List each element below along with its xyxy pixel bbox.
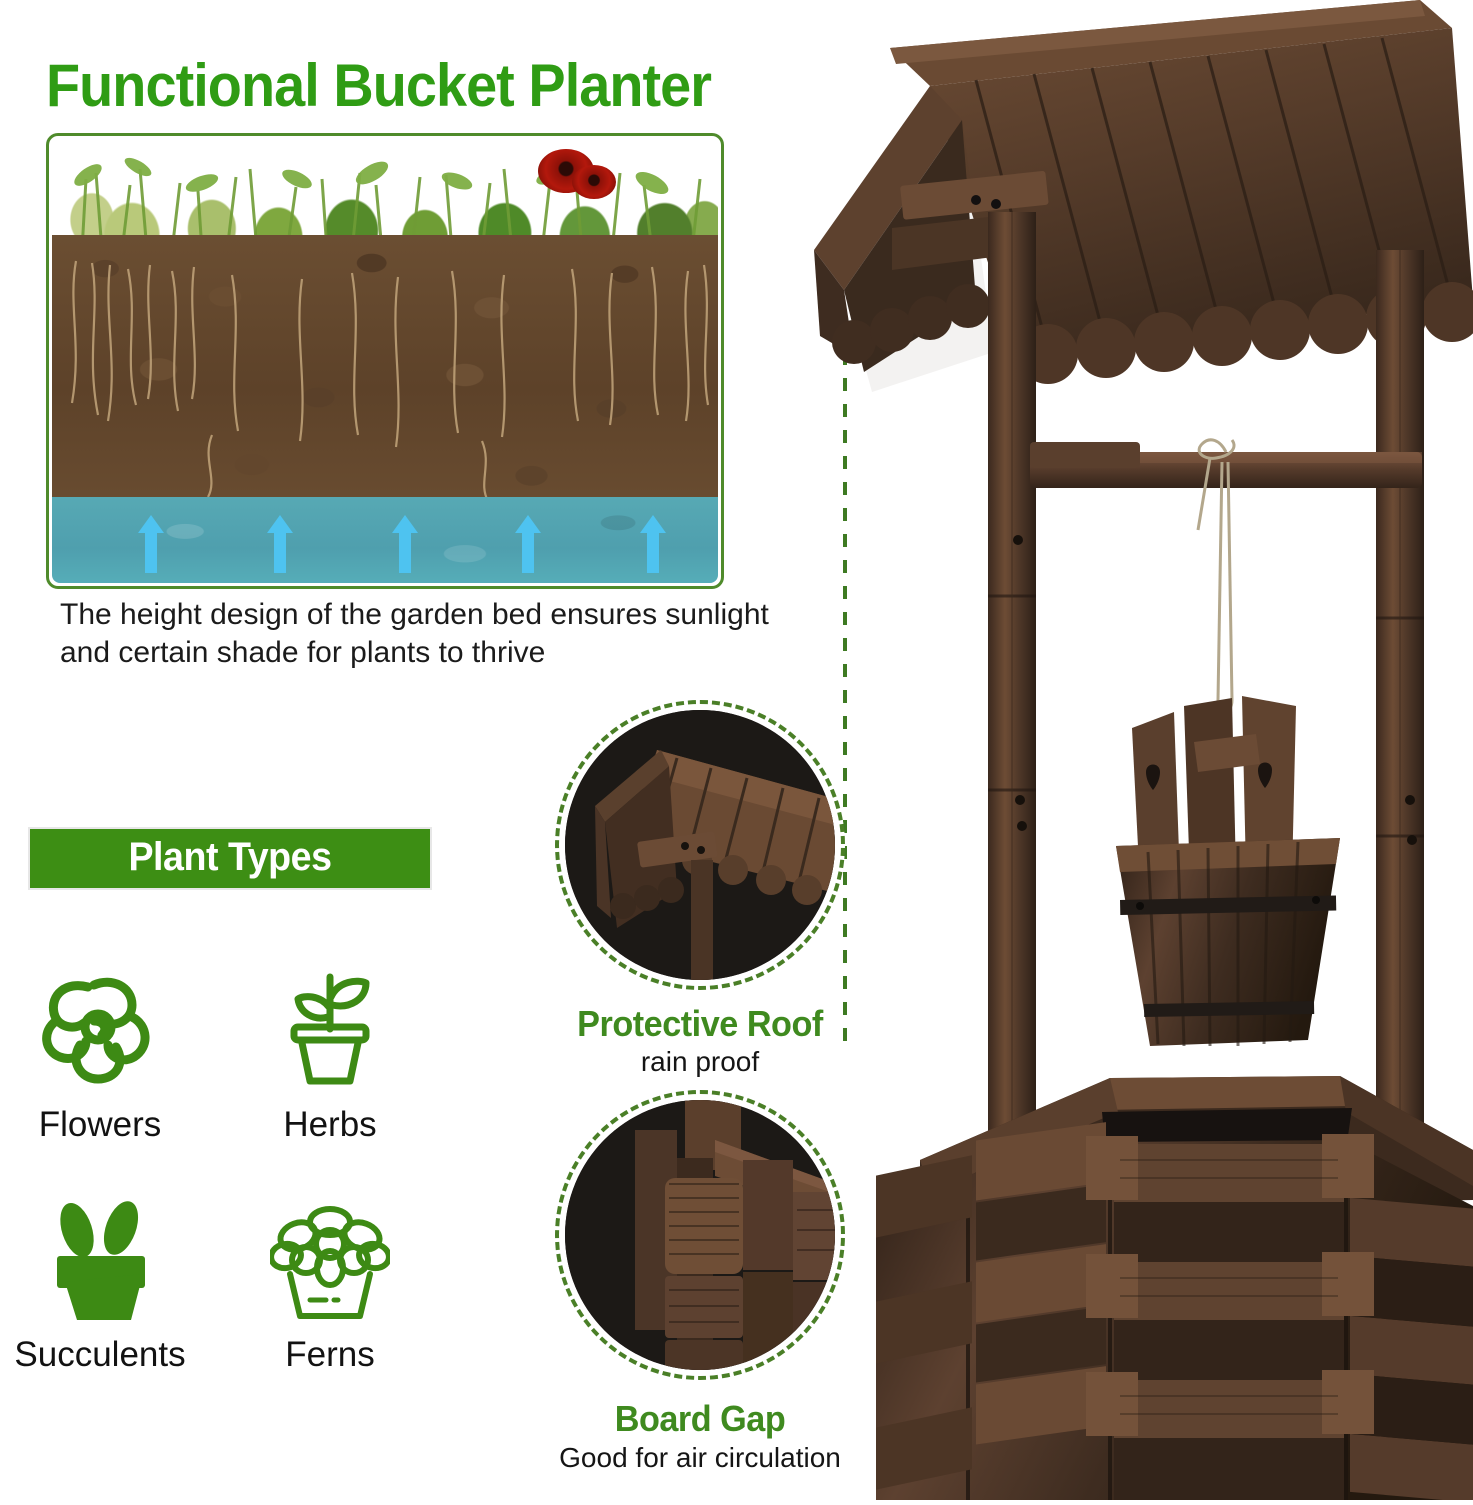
page-title: Functional Bucket Planter: [46, 50, 697, 122]
plant-type-succulents: Succulents: [0, 1185, 200, 1375]
soil-cross-section-photo: [52, 139, 718, 583]
plant-type-label: Succulents: [0, 1335, 200, 1375]
soil-cross-section-figure: [46, 133, 724, 589]
water-flow-arrow: [640, 515, 666, 573]
potted-seedling-icon: [230, 955, 430, 1105]
succulent-pot-icon: [0, 1185, 200, 1335]
water-flow-arrow: [267, 515, 293, 573]
water-flow-arrow: [392, 515, 418, 573]
caption-line-1: The height design of the garden bed ensu…: [60, 596, 860, 634]
caption-line-2: and certain shade for plants to thrive: [60, 634, 860, 672]
plant-type-label: Herbs: [230, 1105, 430, 1145]
soil-layer: [52, 235, 718, 515]
water-flow-arrow: [515, 515, 541, 573]
plant-types-banner-label: Plant Types: [42, 835, 418, 880]
plant-type-label: Ferns: [230, 1335, 430, 1375]
root-network: [52, 235, 718, 515]
plant-type-label: Flowers: [0, 1105, 200, 1145]
plant-type-herbs: Herbs: [230, 955, 430, 1145]
red-pansy-flower: [572, 165, 616, 199]
plant-types-banner: Plant Types: [28, 827, 432, 890]
soil-feature-caption: The height design of the garden bed ensu…: [60, 596, 860, 672]
water-flow-arrow: [138, 515, 164, 573]
flower-outline-icon: [0, 955, 200, 1105]
wooden-wishing-well-planter-photo: [780, 0, 1473, 1500]
water-drainage-layer: [52, 497, 718, 583]
plant-type-ferns: Ferns: [230, 1185, 430, 1375]
plant-type-flowers: Flowers: [0, 955, 200, 1145]
fern-pot-icon: [230, 1185, 430, 1335]
